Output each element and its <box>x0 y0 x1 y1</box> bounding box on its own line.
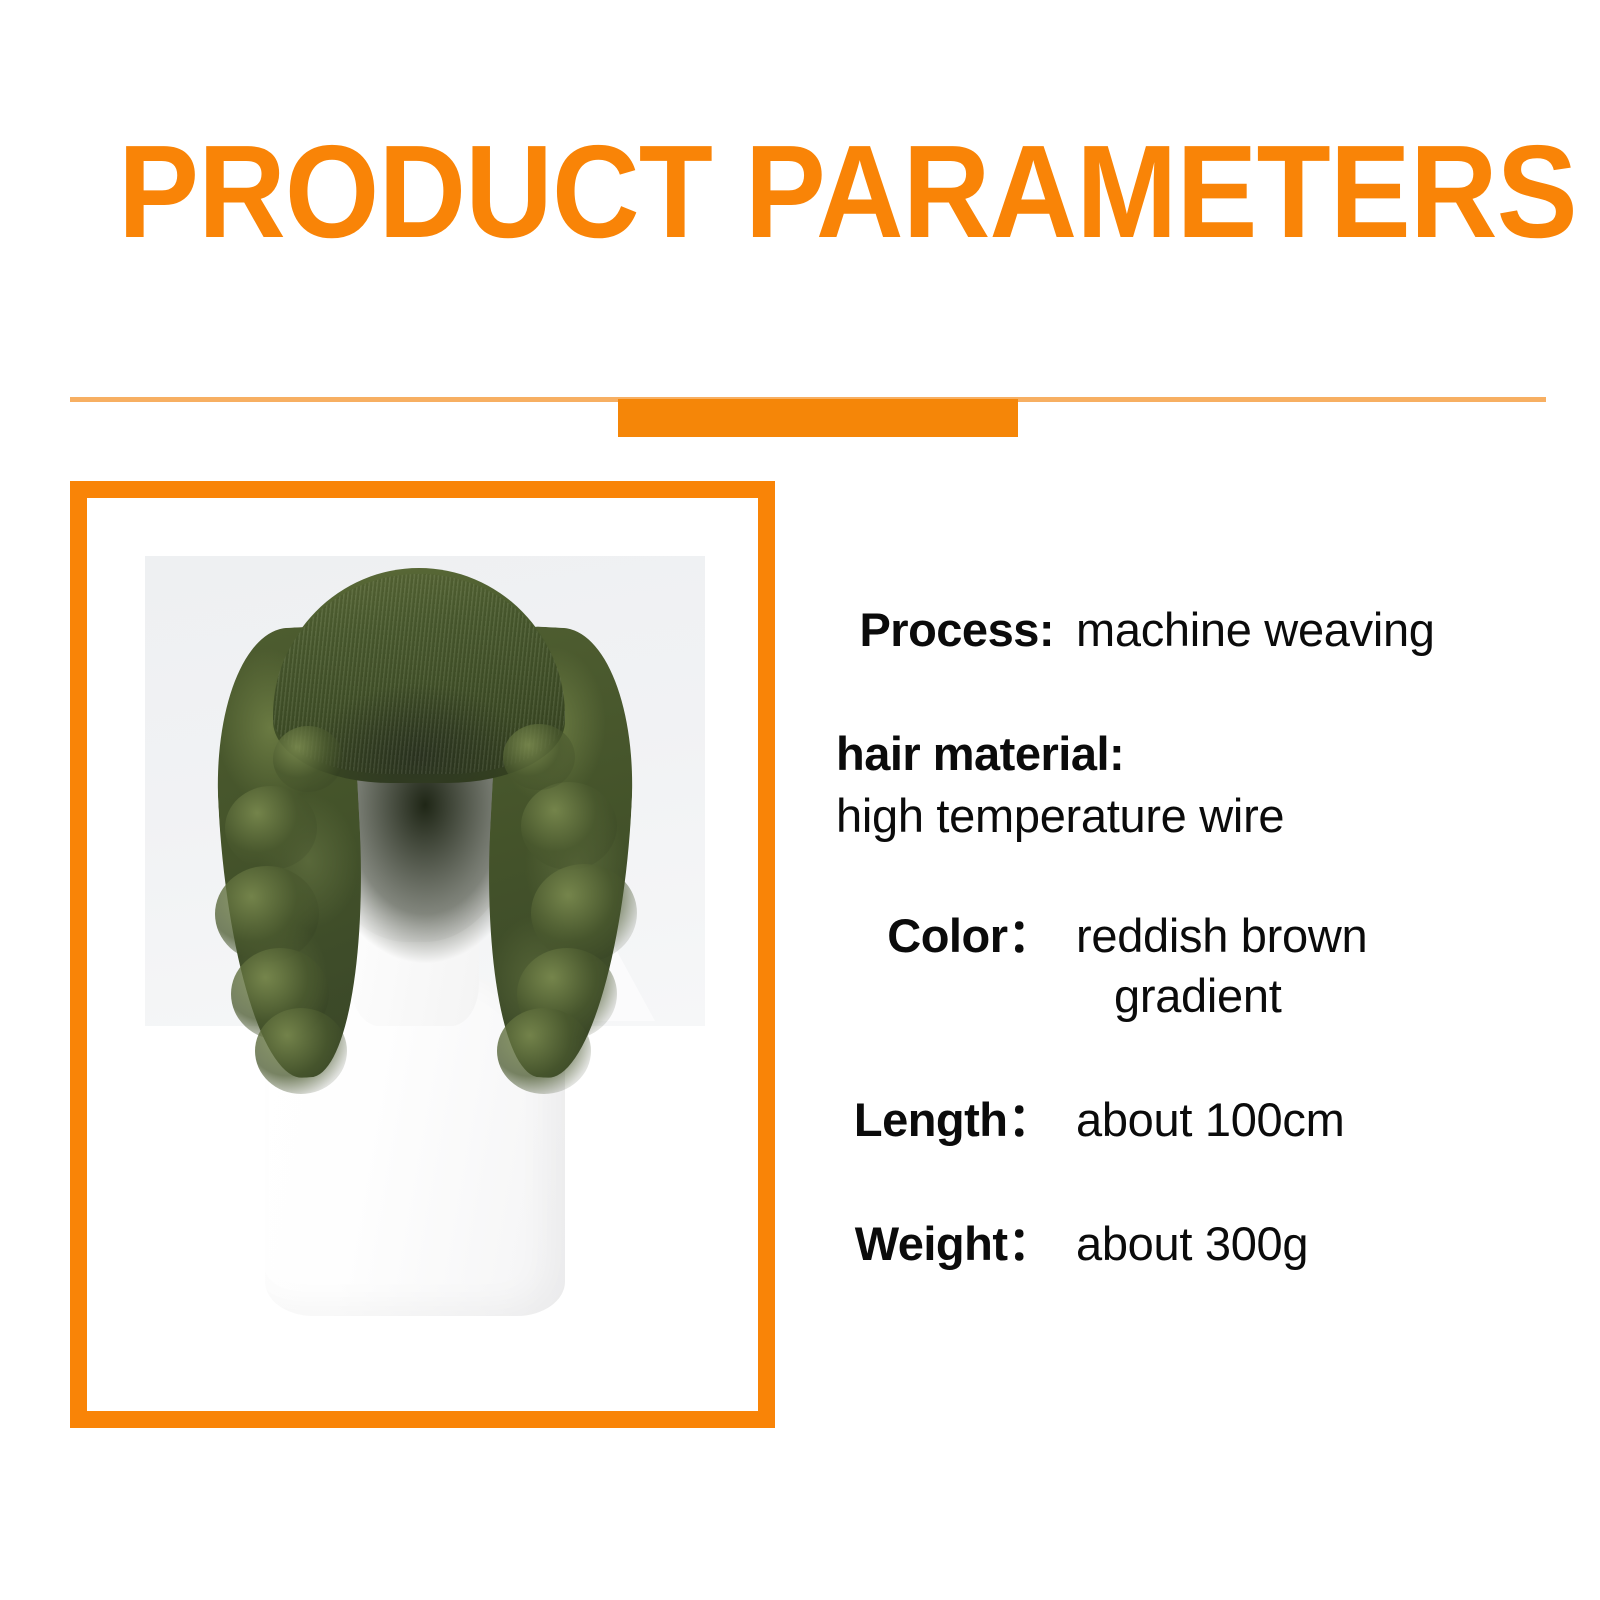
spec-row-color: Color： reddish brown gradient <box>836 906 1536 1026</box>
spec-row-hair-material: hair material: high temperature wire <box>836 724 1536 846</box>
wig-curl <box>215 866 319 962</box>
page-title: PRODUCT PARAMETERS <box>118 126 1577 258</box>
spec-label-process: Process: <box>836 600 1054 660</box>
product-photo-frame <box>70 481 775 1428</box>
spec-value-color: reddish brown gradient <box>1054 906 1406 1026</box>
spec-row-process: Process: machine weaving <box>836 600 1536 660</box>
wig-curl <box>521 782 617 870</box>
spec-label-color: Color： <box>836 906 1054 966</box>
spec-row-weight: Weight： about 300g <box>836 1214 1536 1274</box>
wig-curl <box>225 786 317 870</box>
spec-label-hair-material: hair material: <box>836 724 1536 784</box>
spec-value-hair-material: high temperature wire <box>836 786 1536 846</box>
wig-curl <box>273 726 343 792</box>
divider-accent-block <box>618 399 1018 437</box>
spec-label-weight: Weight： <box>836 1214 1054 1274</box>
spec-value-length: about 100cm <box>1054 1090 1536 1150</box>
spec-value-process: machine weaving <box>1054 600 1536 660</box>
wig-curl <box>255 1008 347 1094</box>
spec-value-color-line1: reddish brown <box>1076 909 1367 962</box>
product-spec-list: Process: machine weaving hair material: … <box>836 600 1536 1338</box>
spec-value-color-line2: gradient <box>1076 966 1406 1026</box>
wig-curl <box>531 864 637 962</box>
wig-curl <box>503 724 575 790</box>
spec-label-length: Length： <box>836 1090 1054 1150</box>
spec-value-weight: about 300g <box>1054 1214 1536 1274</box>
divider-thin-line <box>70 397 1546 402</box>
product-photo <box>145 556 705 1316</box>
wig-curl <box>497 1008 591 1094</box>
wig-product <box>145 556 705 1316</box>
spec-row-length: Length： about 100cm <box>836 1090 1536 1150</box>
